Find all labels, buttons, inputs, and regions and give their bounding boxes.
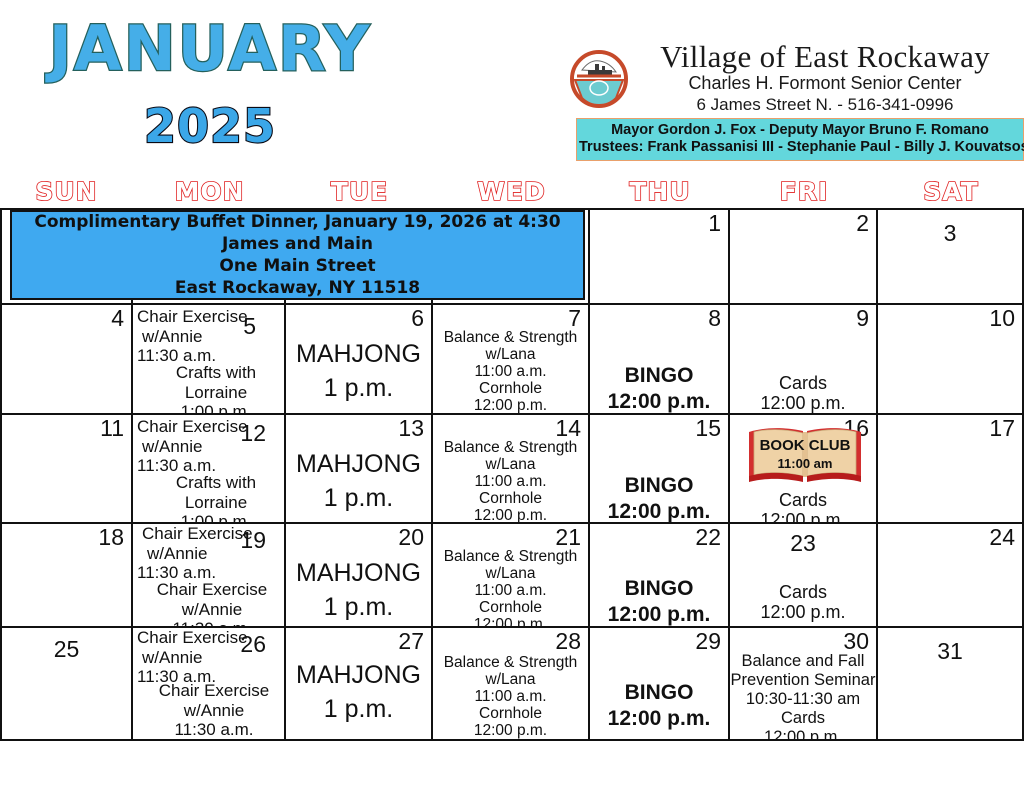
day-number: 20 <box>398 524 424 550</box>
day-number: 30 <box>843 628 869 654</box>
event-line: Cards <box>730 490 876 510</box>
day-cell-19[interactable]: 19 Chair Exercise w/Annie 11:30 a.m. Cha… <box>133 524 286 628</box>
event-line: 1 p.m. <box>286 371 431 405</box>
event-line: Chair Exercise <box>137 307 267 327</box>
event-line: 12:00 p.m. <box>730 393 876 413</box>
banner-line-3: One Main Street <box>219 255 375 277</box>
day-cell-30[interactable]: 30 Balance and Fall Prevention Seminar 1… <box>730 628 878 741</box>
day-number: 21 <box>555 524 581 550</box>
event-line: 12:00 p.m. <box>433 722 588 739</box>
event-crafts-lorraine: Crafts with Lorraine 1:00 p.m. <box>151 473 281 524</box>
day-number: 9 <box>856 305 869 331</box>
day-header-sat: SAT <box>878 178 1024 206</box>
day-cell-31[interactable]: 31 <box>878 628 1024 741</box>
buffet-dinner-banner[interactable]: Complimentary Buffet Dinner, January 19,… <box>10 210 585 300</box>
day-name-row: SUN MON TUE WED THU FRI SAT <box>0 178 1024 208</box>
event-line: Crafts with <box>151 473 281 493</box>
event-line: 1 p.m. <box>286 590 431 624</box>
day-cell-17[interactable]: 17 <box>878 415 1024 524</box>
event-line: 11:00 a.m. <box>433 688 588 705</box>
event-line: 12:00 p.m. <box>590 389 728 415</box>
event-chair-exercise-1: Chair Exercise w/Annie 11:30 a.m. <box>137 628 267 687</box>
day-number: 31 <box>878 638 1022 664</box>
event-line: MAHJONG <box>286 556 431 590</box>
event-line: w/Lana <box>433 456 588 473</box>
day-number: 3 <box>878 220 1022 246</box>
day-number: 29 <box>695 628 721 654</box>
event-line: MAHJONG <box>286 658 431 692</box>
event-line: 12:00 p.m. <box>730 728 876 741</box>
day-cell-18[interactable]: 18 <box>0 524 133 628</box>
event-balance-strength: Balance & Strength w/Lana 11:00 a.m. Cor… <box>433 439 588 524</box>
village-name-block: Village of East Rockaway Charles H. Form… <box>630 40 1024 115</box>
day-number: 25 <box>2 636 131 662</box>
event-cards: Cards 12:00 p.m. <box>730 490 876 524</box>
day-cell-26[interactable]: 26 Chair Exercise w/Annie 11:30 a.m. Cha… <box>133 628 286 741</box>
banner-line-2: James and Main <box>222 233 373 255</box>
day-number: 8 <box>708 305 721 331</box>
event-line: 12:00 p.m. <box>590 706 728 732</box>
event-line: 1 p.m. <box>286 692 431 726</box>
day-cell-5[interactable]: 5 Chair Exercise w/Annie 11:30 a.m. Craf… <box>133 305 286 415</box>
title-block: JANUARY 2025 <box>0 18 420 150</box>
day-cell-28[interactable]: 28 Balance & Strength w/Lana 11:00 a.m. … <box>433 628 590 741</box>
event-line: Chair Exercise <box>137 524 267 544</box>
event-line: Cornhole <box>433 380 588 397</box>
day-header-sun: SUN <box>0 178 133 206</box>
event-line: w/Annie <box>147 600 277 620</box>
event-balance-strength: Balance & Strength w/Lana 11:00 a.m. Cor… <box>433 329 588 414</box>
day-cell-9[interactable]: 9 Cards 12:00 p.m. <box>730 305 878 415</box>
day-number: 1 <box>708 210 721 236</box>
book-club-title: BOOK CLUB <box>745 437 865 454</box>
event-line: 12:00 p.m. <box>590 602 728 628</box>
event-bingo: BINGO 12:00 p.m. <box>590 576 728 628</box>
event-line: 11:00 a.m. <box>433 473 588 490</box>
day-number: 13 <box>398 415 424 441</box>
officials-banner: Mayor Gordon J. Fox - Deputy Mayor Bruno… <box>576 118 1024 161</box>
event-line: Chair Exercise <box>137 417 267 437</box>
event-line: 11:00 a.m. <box>433 582 588 599</box>
event-line: BINGO <box>590 576 728 602</box>
event-bingo: BINGO 12:00 p.m. <box>590 680 728 732</box>
event-line: 1:00 p.m. <box>151 402 281 415</box>
event-line: w/Lana <box>433 671 588 688</box>
day-number: 14 <box>555 415 581 441</box>
event-chair-exercise-2: Chair Exercise w/Annie 11:30 a.m. <box>147 580 277 628</box>
event-line: 12:00 p.m. <box>590 499 728 524</box>
event-chair-exercise-1: Chair Exercise w/Annie 11:30 a.m. <box>137 524 267 583</box>
day-cell-13[interactable]: 13 MAHJONG 1 p.m. <box>286 415 433 524</box>
event-line: w/Annie <box>137 544 267 564</box>
center-name: Charles H. Formont Senior Center <box>630 73 1020 94</box>
banner-line-1: Complimentary Buffet Dinner, January 19,… <box>34 211 560 233</box>
event-line: w/Annie <box>137 437 267 457</box>
day-cell-27[interactable]: 27 MAHJONG 1 p.m. <box>286 628 433 741</box>
event-line: BINGO <box>590 473 728 499</box>
center-address: 6 James Street N. - 516-341-0996 <box>630 94 1020 115</box>
event-line: BINGO <box>590 363 728 389</box>
day-header-thu: THU <box>590 178 730 206</box>
event-line: w/Annie <box>137 648 267 668</box>
event-mahjong: MAHJONG 1 p.m. <box>286 337 431 405</box>
day-number: 6 <box>411 305 424 331</box>
event-line: BINGO <box>590 680 728 706</box>
officials-line-1: Mayor Gordon J. Fox - Deputy Mayor Bruno… <box>579 122 1021 139</box>
event-line: Balance and Fall <box>730 652 876 671</box>
event-line: w/Annie <box>137 327 267 347</box>
day-cell-24[interactable]: 24 <box>878 524 1024 628</box>
event-line: 12:00 p.m. <box>433 616 588 628</box>
event-line: Chair Exercise <box>147 580 277 600</box>
event-bingo: BINGO 12:00 p.m. <box>590 363 728 415</box>
day-number: 4 <box>111 305 124 331</box>
event-crafts-lorraine: Crafts with Lorraine 1:00 p.m. <box>151 363 281 415</box>
event-line: Crafts with <box>151 363 281 383</box>
event-line: 12:00 p.m. <box>433 507 588 524</box>
day-cell-10[interactable]: 10 <box>878 305 1024 415</box>
event-line: Balance & Strength <box>433 329 588 346</box>
event-balance-strength: Balance & Strength w/Lana 11:00 a.m. Cor… <box>433 548 588 628</box>
day-cell-21[interactable]: 21 Balance & Strength w/Lana 11:00 a.m. … <box>433 524 590 628</box>
event-line: Cornhole <box>433 599 588 616</box>
event-line: Chair Exercise <box>149 681 279 701</box>
village-name: Village of East Rockaway <box>630 40 1020 73</box>
day-cell-4[interactable]: 4 <box>0 305 133 415</box>
day-number: 7 <box>568 305 581 331</box>
day-header-tue: TUE <box>286 178 433 206</box>
event-line: w/Lana <box>433 346 588 363</box>
event-mahjong: MAHJONG 1 p.m. <box>286 447 431 515</box>
event-line: Balance & Strength <box>433 654 588 671</box>
event-chair-exercise: Chair Exercise w/Annie 11:30 a.m. <box>137 307 267 366</box>
event-line: Cornhole <box>433 490 588 507</box>
day-number: 23 <box>730 530 876 556</box>
day-cell-29[interactable]: 29 BINGO 12:00 p.m. <box>590 628 730 741</box>
event-line: Cards <box>730 709 876 728</box>
village-seal-icon <box>568 46 630 108</box>
day-number: 11 <box>100 415 124 441</box>
village-branding: Village of East Rockaway Charles H. Form… <box>568 40 1024 161</box>
day-number: 15 <box>695 415 721 441</box>
day-cell-15[interactable]: 15 BINGO 12:00 p.m. <box>590 415 730 524</box>
event-cards: Cards 12:00 p.m. <box>730 373 876 413</box>
day-header-wed: WED <box>433 178 590 206</box>
day-cell-23[interactable]: 23 Cards 12:00 p.m. <box>730 524 878 628</box>
day-number: 17 <box>989 415 1015 441</box>
event-line: 12:00 p.m. <box>730 602 876 622</box>
book-club-time: 11:00 am <box>745 456 865 472</box>
book-club-badge[interactable]: BOOK CLUB 11:00 am <box>745 426 865 488</box>
event-line: Balance & Strength <box>433 439 588 456</box>
day-cell-20[interactable]: 20 MAHJONG 1 p.m. <box>286 524 433 628</box>
event-line: Lorraine <box>151 383 281 403</box>
event-line: 11:30 a.m. <box>149 720 279 740</box>
day-cell-8[interactable]: 8 BINGO 12:00 p.m. <box>590 305 730 415</box>
day-cell-2[interactable]: 2 <box>730 208 878 305</box>
event-line: Cards <box>730 582 876 602</box>
event-line: 1:00 p.m. <box>151 512 281 524</box>
event-chair-exercise: Chair Exercise w/Annie 11:30 a.m. <box>137 417 267 476</box>
day-cell-11[interactable]: 11 <box>0 415 133 524</box>
event-line: w/Annie <box>149 701 279 721</box>
day-number: 22 <box>695 524 721 550</box>
book-club-text: BOOK CLUB 11:00 am <box>745 437 865 472</box>
day-cell-7[interactable]: 7 Balance & Strength w/Lana 11:00 a.m. C… <box>433 305 590 415</box>
event-line: Chair Exercise <box>137 628 267 648</box>
event-cards: Cards 12:00 p.m. <box>730 582 876 622</box>
day-cell-3[interactable]: 3 <box>878 208 1024 305</box>
event-mahjong: MAHJONG 1 p.m. <box>286 556 431 624</box>
event-bingo: BINGO 12:00 p.m. <box>590 473 728 524</box>
event-line: MAHJONG <box>286 447 431 481</box>
event-line: Cards <box>730 373 876 393</box>
calendar-header: JANUARY 2025 Village of Eas <box>0 0 1024 178</box>
event-line: Lorraine <box>151 493 281 513</box>
day-number: 28 <box>555 628 581 654</box>
event-line: Cornhole <box>433 705 588 722</box>
day-cell-12[interactable]: 12 Chair Exercise w/Annie 11:30 a.m. Cra… <box>133 415 286 524</box>
event-mahjong: MAHJONG 1 p.m. <box>286 658 431 726</box>
event-line: w/Lana <box>433 565 588 582</box>
day-cell-25[interactable]: 25 <box>0 628 133 741</box>
day-number: 2 <box>856 210 869 236</box>
day-cell-22[interactable]: 22 BINGO 12:00 p.m. <box>590 524 730 628</box>
day-cell-1[interactable]: 1 <box>590 208 730 305</box>
page-title-month: JANUARY <box>0 18 420 80</box>
event-line: 11:00 a.m. <box>433 363 588 380</box>
page-title-year: 2025 <box>0 102 420 150</box>
day-number: 18 <box>98 524 124 550</box>
village-top-row: Village of East Rockaway Charles H. Form… <box>568 40 1024 115</box>
event-line: Prevention Seminar <box>730 671 876 690</box>
day-header-mon: MON <box>133 178 286 206</box>
banner-line-4: East Rockaway, NY 11518 <box>175 277 420 299</box>
event-balance-strength: Balance & Strength w/Lana 11:00 a.m. Cor… <box>433 654 588 739</box>
officials-line-2: Trustees: Frank Passanisi III - Stephani… <box>579 139 1021 156</box>
event-line: 10:30-11:30 am <box>730 690 876 709</box>
event-line: 1 p.m. <box>286 481 431 515</box>
day-number: 24 <box>989 524 1015 550</box>
day-number: 10 <box>989 305 1015 331</box>
day-cell-14[interactable]: 14 Balance & Strength w/Lana 11:00 a.m. … <box>433 415 590 524</box>
event-line: 12:00 p.m. <box>433 397 588 414</box>
event-chair-exercise-2: Chair Exercise w/Annie 11:30 a.m. <box>149 681 279 740</box>
event-line: Balance & Strength <box>433 548 588 565</box>
event-line: 12:00 p.m. <box>730 510 876 524</box>
day-header-fri: FRI <box>730 178 878 206</box>
event-fall-prevention-seminar: Balance and Fall Prevention Seminar 10:3… <box>730 652 876 741</box>
day-number: 27 <box>398 628 424 654</box>
event-line: MAHJONG <box>286 337 431 371</box>
event-line: 11:30 a.m. <box>147 619 277 628</box>
day-cell-6[interactable]: 6 MAHJONG 1 p.m. <box>286 305 433 415</box>
